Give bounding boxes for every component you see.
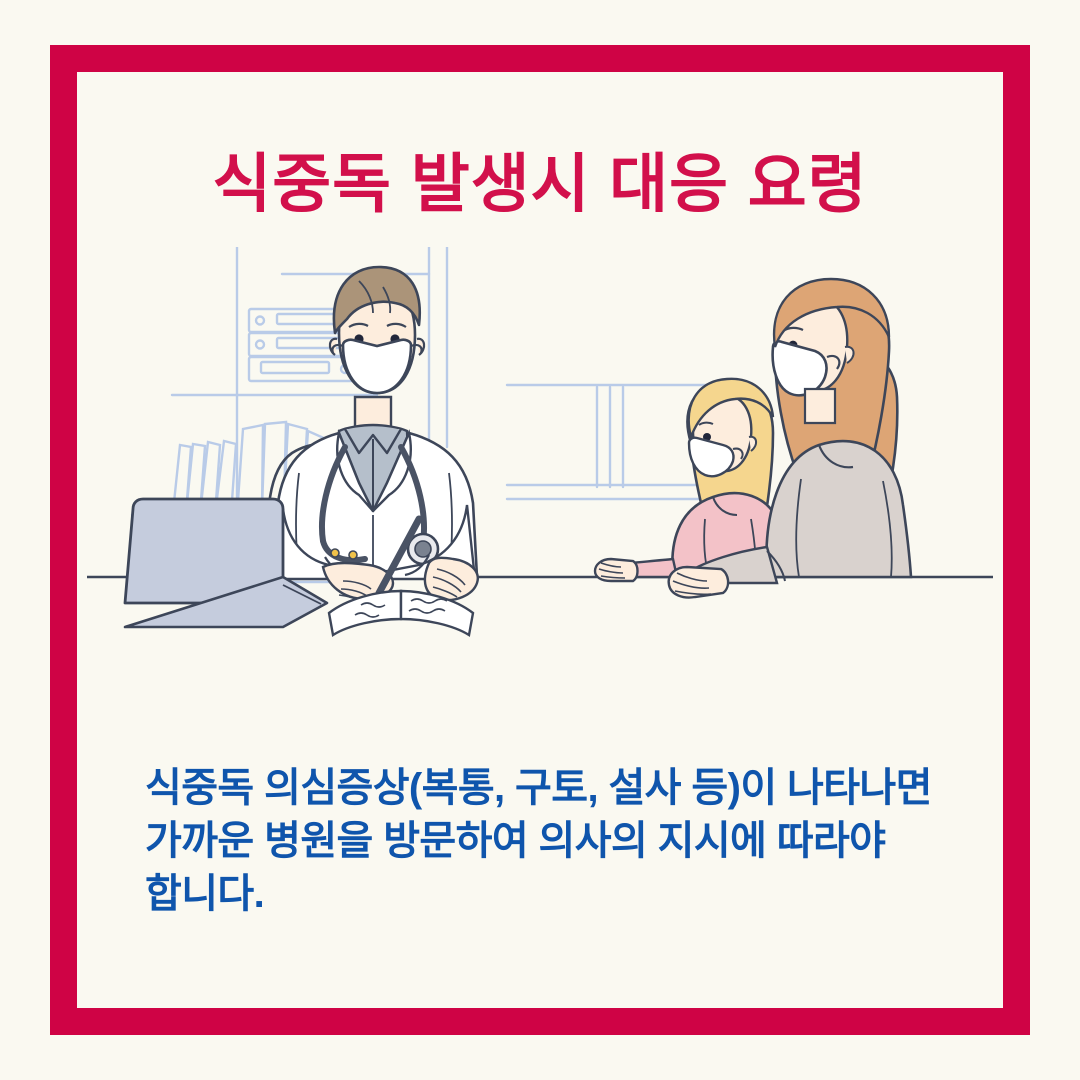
page-title: 식중독 발생시 대응 요령 (77, 150, 1003, 219)
mother-neck (805, 389, 835, 423)
poster-root: 식중독 발생시 대응 요령 (0, 0, 1080, 1080)
window-frame (507, 385, 717, 499)
stethoscope-clip-right (349, 551, 357, 559)
illustration-svg (77, 247, 1003, 677)
doctor-mask (343, 340, 411, 393)
stethoscope-diaphragm (415, 541, 431, 557)
body-paragraph: 식중독 의심증상(복통, 구토, 설사 등)이 나타나면 가까운 병원을 방문하… (145, 762, 985, 922)
illustration-scene (77, 247, 1003, 677)
paper-left (329, 591, 401, 635)
stethoscope-clip-left (331, 549, 339, 557)
poster-inner: 식중독 발생시 대응 요령 (77, 72, 1003, 1008)
